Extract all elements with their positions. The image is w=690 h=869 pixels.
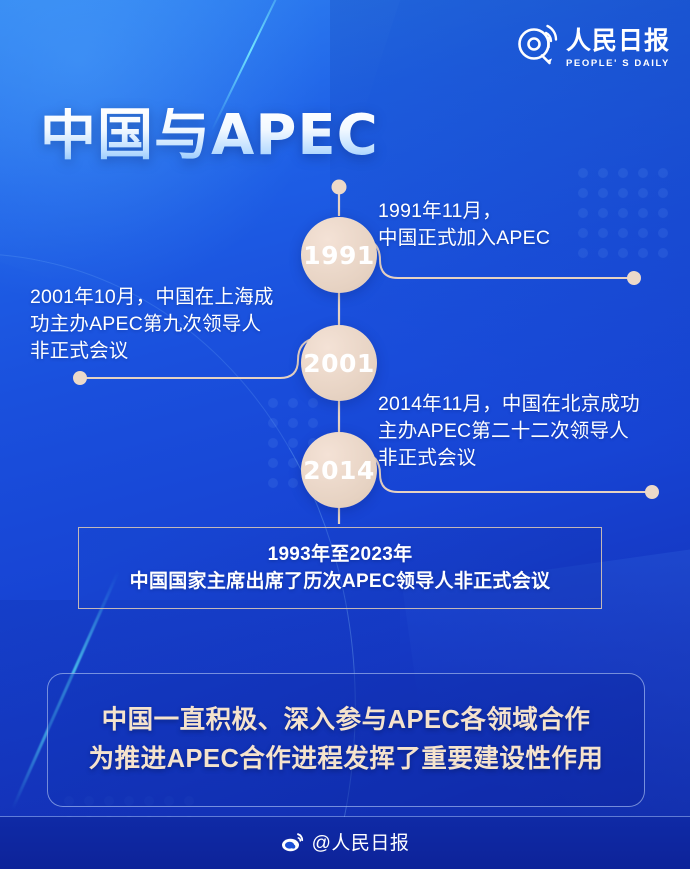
entry-line: 中国正式加入APEC: [378, 225, 550, 252]
footer-handle: @人民日报: [312, 828, 410, 855]
entry-line: 非正式会议: [378, 445, 640, 472]
conclusion-line-1: 中国一直积极、深入参与APEC各领域合作: [102, 706, 591, 735]
entry-line: 2014年11月，中国在北京成功: [378, 391, 640, 418]
timeline-node-year: 2001: [303, 349, 375, 378]
entry-line: 2001年10月，中国在上海成: [30, 284, 274, 311]
statement-box: 1993年至2023年 中国国家主席出席了历次APEC领导人非正式会议: [78, 527, 602, 609]
conclusion-box: 中国一直积极、深入参与APEC各领域合作 为推进APEC合作进程发挥了重要建设性…: [47, 673, 645, 807]
timeline-node-year: 2014: [303, 456, 375, 485]
timeline-entry-text-1991: 1991年11月， 中国正式加入APEC: [378, 198, 550, 252]
statement-line-2: 中国国家主席出席了历次APEC领导人非正式会议: [130, 571, 551, 593]
timeline-entry-text-2014: 2014年11月，中国在北京成功 主办APEC第二十二次领导人 非正式会议: [378, 391, 640, 472]
timeline-node-2014[interactable]: 2014: [301, 432, 377, 508]
timeline-entry-text-2001: 2001年10月，中国在上海成 功主办APEC第九次领导人 非正式会议: [30, 284, 274, 365]
timeline-node-2001[interactable]: 2001: [301, 325, 377, 401]
entry-line: 1991年11月，: [378, 198, 550, 225]
timeline-node-year: 1991: [303, 241, 375, 270]
statement-line-1: 1993年至2023年: [268, 544, 413, 566]
entry-line: 功主办APEC第九次领导人: [30, 311, 274, 338]
entry-line: 主办APEC第二十二次领导人: [378, 418, 640, 445]
weibo-icon: [281, 832, 305, 852]
timeline-node-1991[interactable]: 1991: [301, 217, 377, 293]
footer: @人民日报: [0, 828, 690, 855]
conclusion-line-2: 为推进APEC合作进程发挥了重要建设性作用: [89, 745, 604, 774]
infographic-poster: 人民日报 PEOPLE' S DAILY 中国与APEC: [0, 0, 690, 869]
entry-line: 非正式会议: [30, 338, 274, 365]
